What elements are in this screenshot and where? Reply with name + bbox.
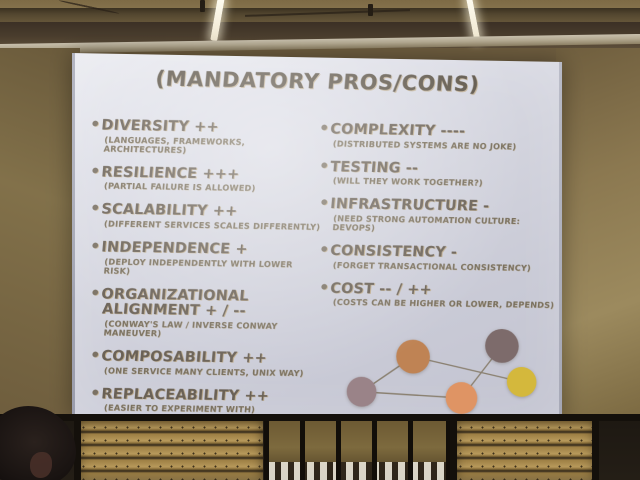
panel-perforations xyxy=(78,421,263,480)
node-upper-brown xyxy=(485,329,519,363)
bullet-subtext: (FORGET TRANSACTIONAL CONSISTENCY) xyxy=(332,261,554,273)
list-item: •CONSISTENCY - (FORGET TRANSACTIONAL CON… xyxy=(319,241,554,273)
bullet-heading-text: RESILIENCE +++ xyxy=(101,164,240,182)
panel-frame-divider xyxy=(592,414,599,480)
bullet-heading-text: REPLACEABILITY ++ xyxy=(101,386,270,404)
lecture-room-photo: (MANDATORY PROS/CONS) •DIVERSITY ++ (LAN… xyxy=(0,0,640,480)
bullet-heading-text: DIVERSITY ++ xyxy=(101,118,220,136)
panel-perforations xyxy=(455,421,595,480)
panel-frame-divider xyxy=(450,414,457,480)
bullet-heading-text: INFRASTRUCTURE - xyxy=(330,197,490,215)
bullet-heading-text: CONSISTENCY - xyxy=(330,243,458,261)
wood-acoustic-panel xyxy=(78,421,263,480)
window-mullion xyxy=(372,421,377,480)
node-right-gold xyxy=(507,367,537,397)
bullet-subtext: (DEPLOY INDEPENDENTLY WITH LOWER RISK) xyxy=(103,257,322,278)
slide-title: (MANDATORY PROS/CONS) xyxy=(71,65,563,98)
list-item: •SCALABILITY ++ (DIFFERENT SERVICES SCAL… xyxy=(90,200,321,232)
bullet-subtext: (COSTS CAN BE HIGHER OR LOWER, DEPENDS) xyxy=(332,298,554,310)
list-item: •COMPOSABILITY ++ (ONE SERVICE MANY CLIE… xyxy=(90,346,321,378)
list-item: •COMPLEXITY ---- (DISTRIBUTED SYSTEMS AR… xyxy=(319,119,554,152)
node-top-orange xyxy=(396,339,430,373)
node-left-mauve xyxy=(347,377,377,407)
left-wall xyxy=(0,48,80,420)
pros-column: •DIVERSITY ++ (LANGUAGES, FRAMEWORKS, AR… xyxy=(90,115,321,424)
cable-clip xyxy=(368,4,373,16)
right-wall xyxy=(556,48,640,418)
audience-member-ear xyxy=(30,452,52,478)
node-graph-decoration xyxy=(339,319,543,417)
list-item: •INFRASTRUCTURE - (NEED STRONG AUTOMATIO… xyxy=(319,194,554,235)
list-item: •TESTING -- (WILL THEY WORK TOGETHER?) xyxy=(319,157,554,189)
bullet-heading-text: COST -- / ++ xyxy=(330,281,433,298)
list-item: •INDEPENDENCE + (DEPLOY INDEPENDENTLY WI… xyxy=(90,237,321,278)
list-item: •ORGANIZATIONAL ALIGNMENT + / -- (CONWAY… xyxy=(90,284,321,341)
bullet-heading-text: COMPOSABILITY ++ xyxy=(101,348,268,366)
bullet-subtext: (DIFFERENT SERVICES SCALES DIFFERENTLY) xyxy=(104,220,322,232)
cons-column: •COMPLEXITY ---- (DISTRIBUTED SYSTEMS AR… xyxy=(319,119,554,319)
bullet-subtext: (ONE SERVICE MANY CLIENTS, UNIX WAY) xyxy=(104,366,322,378)
bullet-heading-text: SCALABILITY ++ xyxy=(101,202,238,220)
bullet-subtext: (LANGUAGES, FRAMEWORKS, ARCHITECTURES) xyxy=(103,135,322,157)
wood-acoustic-panel xyxy=(455,421,595,480)
projection-screen: (MANDATORY PROS/CONS) •DIVERSITY ++ (LAN… xyxy=(72,53,562,424)
bullet-subtext: (CONWAY'S LAW / INVERSE CONWAY MANEUVER) xyxy=(103,319,322,340)
list-item: •DIVERSITY ++ (LANGUAGES, FRAMEWORKS, AR… xyxy=(90,115,321,157)
window-mullion xyxy=(336,421,341,480)
panel-frame-top xyxy=(0,414,640,421)
bullet-subtext: (NEED STRONG AUTOMATION CULTURE: DEVOPS) xyxy=(332,214,555,235)
window-mullion xyxy=(408,421,413,480)
list-item: •RESILIENCE +++ (PARTIAL FAILURE IS ALLO… xyxy=(90,162,321,194)
list-item: •COST -- / ++ (COSTS CAN BE HIGHER OR LO… xyxy=(319,278,554,310)
cable-clip xyxy=(200,0,205,12)
bullet-heading-text: COMPLEXITY ---- xyxy=(330,121,466,139)
presentation-slide: (MANDATORY PROS/CONS) •DIVERSITY ++ (LAN… xyxy=(72,53,562,424)
bullet-subtext: (PARTIAL FAILURE IS ALLOWED) xyxy=(104,182,322,194)
window-mullion xyxy=(300,421,305,480)
window-sill xyxy=(268,462,450,480)
bullet-heading-text: INDEPENDENCE + xyxy=(101,239,249,257)
window-mullion xyxy=(264,421,269,480)
node-bottom-salmon xyxy=(446,382,478,414)
bullet-subtext: (WILL THEY WORK TOGETHER?) xyxy=(332,177,554,190)
list-item: •REPLACEABILITY ++ (EASIER TO EXPERIMENT… xyxy=(90,384,321,416)
bullet-heading-text: TESTING -- xyxy=(330,159,419,176)
